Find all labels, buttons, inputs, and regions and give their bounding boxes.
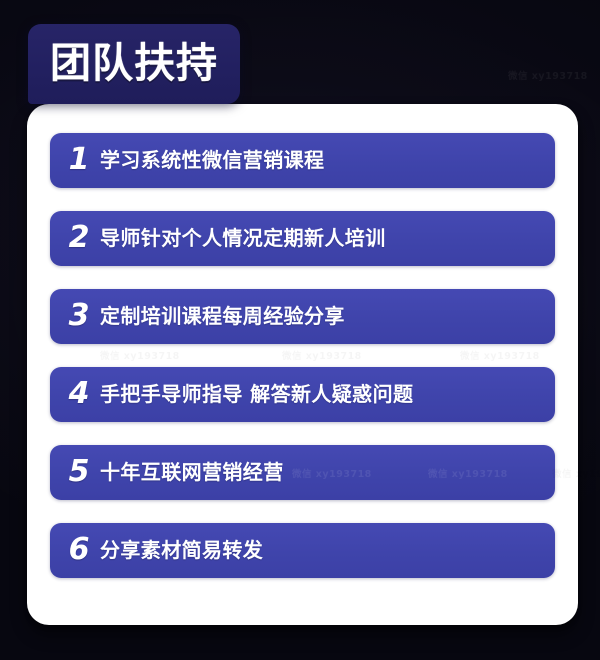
watermark-text: 微信 xy193718 (508, 68, 588, 82)
list-item[interactable]: 1学习系统性微信营销课程 (50, 133, 555, 188)
list-item-label: 十年互联网营销经营 (100, 462, 284, 484)
list-item-label: 导师针对个人情况定期新人培训 (100, 228, 386, 250)
list-item-label: 分享素材简易转发 (100, 540, 263, 562)
title-badge: 团队扶持 (28, 24, 240, 104)
list-item-number: 3 (50, 301, 100, 333)
list-item-number: 1 (50, 145, 100, 177)
list-item-number: 5 (50, 457, 100, 489)
page-title: 团队扶持 (50, 43, 218, 86)
list-item[interactable]: 5十年互联网营销经营 (50, 445, 555, 500)
list-item-label: 手把手导师指导 解答新人疑惑问题 (100, 384, 413, 406)
list-item-number: 6 (50, 535, 100, 567)
list-item[interactable]: 6分享素材简易转发 (50, 523, 555, 578)
list-item-label: 定制培训课程每周经验分享 (100, 306, 345, 328)
list-item[interactable]: 2导师针对个人情况定期新人培训 (50, 211, 555, 266)
benefits-list: 1学习系统性微信营销课程2导师针对个人情况定期新人培训3定制培训课程每周经验分享… (50, 133, 555, 578)
list-item-number: 2 (50, 223, 100, 255)
list-item[interactable]: 3定制培训课程每周经验分享 (50, 289, 555, 344)
list-item-label: 学习系统性微信营销课程 (100, 150, 324, 172)
poster-canvas: 团队扶持 1学习系统性微信营销课程2导师针对个人情况定期新人培训3定制培训课程每… (0, 0, 600, 660)
benefits-card: 1学习系统性微信营销课程2导师针对个人情况定期新人培训3定制培训课程每周经验分享… (27, 104, 578, 625)
list-item-number: 4 (50, 379, 100, 411)
list-item[interactable]: 4手把手导师指导 解答新人疑惑问题 (50, 367, 555, 422)
